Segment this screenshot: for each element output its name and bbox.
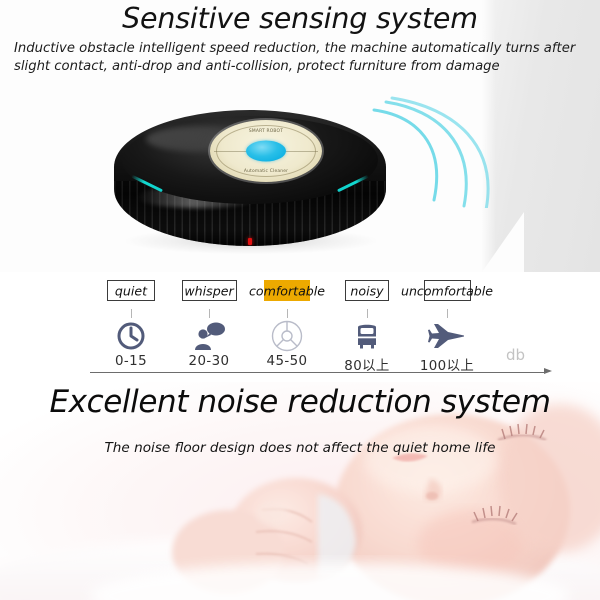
- scale-axis-arrow: [544, 368, 552, 374]
- label-box-whisper: whisper: [182, 280, 237, 301]
- clock-icon: [116, 321, 146, 351]
- gray-panel-diagonal-cut: [482, 212, 524, 272]
- tick-comfortable: [287, 309, 288, 318]
- sonar-wave-icon: [372, 96, 492, 208]
- tick-quiet: [131, 309, 132, 318]
- noise-level-scale: quiet 0-15 whisper: [0, 272, 600, 382]
- product-advertisement-page: Sensitive sensing system Inductive obsta…: [0, 0, 600, 600]
- label-box-quiet: quiet: [107, 280, 155, 301]
- scale-item-comfortable[interactable]: comfortable 45-50: [244, 280, 330, 301]
- scale-value-uncomfortable: 100以上: [404, 354, 490, 374]
- scale-label-noisy: noisy: [350, 281, 383, 300]
- label-box-noisy: noisy: [345, 280, 389, 301]
- scale-label-quiet: quiet: [115, 281, 147, 300]
- icon-slot-uncomfortable: [404, 318, 490, 354]
- tick-noisy: [367, 309, 368, 318]
- top-subtitle: Inductive obstacle intelligent speed red…: [14, 40, 592, 75]
- bottom-headline: Excellent noise reduction system: [0, 384, 600, 420]
- sensing-system-section: Sensitive sensing system Inductive obsta…: [0, 0, 600, 272]
- label-box-comfortable: comfortable: [264, 280, 310, 301]
- speech-person-icon: [192, 321, 226, 351]
- bottom-subtitle: The noise floor design does not affect t…: [0, 440, 600, 456]
- icon-slot-whisper: [166, 318, 252, 354]
- robot-vacuum-product: SMART ROBOT Automatic Cleaner: [108, 92, 398, 264]
- scale-value-comfortable: 45-50: [244, 354, 330, 369]
- power-button-icon[interactable]: [246, 141, 286, 162]
- tick-uncomfortable: [447, 309, 448, 318]
- scale-axis-line: [90, 372, 546, 373]
- icon-slot-noisy: [324, 318, 410, 354]
- airplane-icon: [428, 322, 466, 350]
- scale-item-quiet[interactable]: quiet 0-15: [88, 280, 174, 301]
- scale-item-noisy[interactable]: noisy 80以上: [324, 280, 410, 301]
- label-brand-text: SMART ROBOT: [210, 129, 322, 134]
- scale-label-uncomfortable: uncomfortable: [401, 281, 493, 300]
- robot-top-label: SMART ROBOT Automatic Cleaner: [210, 120, 322, 182]
- scale-value-quiet: 0-15: [88, 354, 174, 369]
- icon-slot-quiet: [88, 318, 174, 354]
- top-headline: Sensitive sensing system: [0, 2, 600, 35]
- label-model-text: Automatic Cleaner: [210, 169, 322, 174]
- status-led-indicator: [248, 238, 252, 245]
- scale-value-whisper: 20-30: [166, 354, 252, 369]
- scale-unit-label: db: [506, 346, 525, 364]
- robot-vacuum-icon: [270, 319, 304, 353]
- scale-label-whisper: whisper: [184, 281, 233, 300]
- scale-item-uncomfortable[interactable]: uncomfortable 100以上: [404, 280, 490, 301]
- noise-reduction-section: Excellent noise reduction system The noi…: [0, 382, 600, 600]
- bus-icon: [352, 321, 382, 351]
- scale-label-comfortable: comfortable: [249, 281, 325, 300]
- tick-whisper: [209, 309, 210, 318]
- scale-value-noisy: 80以上: [324, 354, 410, 374]
- icon-slot-comfortable: [244, 318, 330, 354]
- robot-body: SMART ROBOT Automatic Cleaner: [114, 110, 386, 246]
- label-box-uncomfortable: uncomfortable: [424, 280, 471, 301]
- scale-items-container: quiet 0-15 whisper: [88, 272, 518, 382]
- scale-item-whisper[interactable]: whisper 20-30: [166, 280, 252, 301]
